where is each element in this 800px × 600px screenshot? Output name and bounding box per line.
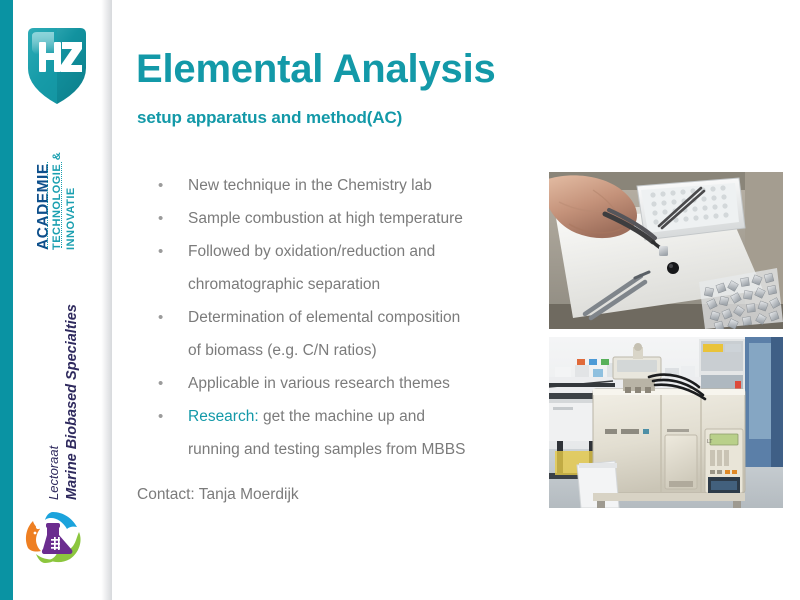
presentation-slide: ACADEMIE TECHNOLOGIE & INNOVATIE Lectora… (0, 0, 800, 600)
bullet-dot: • (158, 401, 163, 432)
list-item: • Determination of elemental composition (152, 302, 552, 333)
dotted-rule-2 (61, 162, 62, 248)
bullet-dot: • (158, 236, 163, 267)
innovatie-label: INNOVATIE (65, 187, 77, 250)
list-item-text: Sample combustion at high temperature (188, 210, 463, 227)
mbbs-swoosh-flask-icon (22, 508, 86, 568)
photo-sample-preparation-tweezers (549, 172, 783, 329)
list-item-highlight: Research: (188, 408, 259, 425)
dotted-rule (47, 162, 48, 248)
list-item: • Followed by oxidation/reduction and (152, 236, 552, 267)
list-item-text: New technique in the Chemistry lab (188, 177, 432, 194)
bullet-dot: • (158, 368, 163, 399)
list-item-text: Applicable in various research themes (188, 375, 450, 392)
svg-text:LT: LT (707, 439, 712, 445)
sidebar: ACADEMIE TECHNOLOGIE & INNOVATIE Lectora… (0, 0, 112, 600)
lectoraat-name: Marine Biobased Specialties (64, 304, 80, 500)
lectoraat-text-block: Lectoraat Marine Biobased Specialties (26, 300, 106, 510)
list-item-text: get the machine up and (259, 408, 425, 425)
list-item-text: Followed by oxidation/reduction and (188, 243, 435, 260)
slide-title: Elemental Analysis (136, 48, 496, 90)
list-item-text: of biomass (e.g. C/N ratios) (188, 342, 377, 359)
list-item: • Sample combustion at high temperature (152, 203, 552, 234)
list-item: • New technique in the Chemistry lab (152, 170, 552, 201)
academy-text-block: ACADEMIE TECHNOLOGIE & INNOVATIE (0, 120, 117, 250)
list-item-continuation: running and testing samples from MBBS (152, 434, 552, 465)
list-item-research: • Research: get the machine up and (152, 401, 552, 432)
lectoraat-label: Lectoraat (46, 446, 61, 500)
list-item-continuation: chromatographic separation (152, 269, 552, 300)
list-item: • Applicable in various research themes (152, 368, 552, 399)
bullet-dot: • (158, 203, 163, 234)
list-item-continuation: of biomass (e.g. C/N ratios) (152, 335, 552, 366)
bullet-list: • New technique in the Chemistry lab • S… (152, 170, 552, 467)
photo-elemental-analyzer-instrument: LT (549, 337, 783, 508)
slide-subtitle: setup apparatus and method(AC) (137, 108, 402, 128)
contact-line: Contact: Tanja Moerdijk (137, 486, 299, 504)
bullet-dot: • (158, 302, 163, 333)
hz-shield-icon (24, 24, 90, 108)
list-item-text: running and testing samples from MBBS (188, 441, 465, 458)
list-item-text: Determination of elemental composition (188, 309, 460, 326)
list-item-text: chromatographic separation (188, 276, 380, 293)
bullet-dot: • (158, 170, 163, 201)
sidebar-accent-bar (0, 0, 13, 600)
